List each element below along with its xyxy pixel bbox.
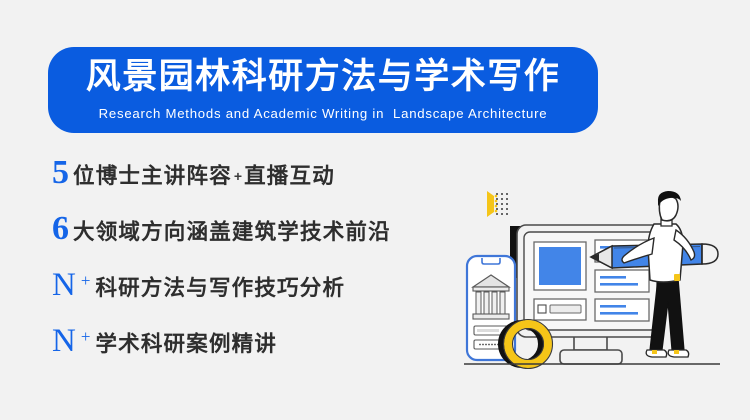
yellow-dotted-wedge-icon (487, 191, 508, 217)
monitor-stand-base (560, 350, 622, 364)
screen-text-card (595, 270, 649, 292)
phone-username-placeholder (477, 329, 499, 332)
plus-sign: + (81, 328, 91, 345)
screen-media-thumbnail (539, 247, 581, 285)
page-subtitle: Research Methods and Academic Writing in… (99, 104, 548, 124)
list-item: 5 位博士主讲阵容+直播互动 (52, 156, 472, 212)
screen-text-card (595, 299, 649, 321)
list-item: 6 大领域方向涵盖建筑学技术前沿 (52, 212, 472, 268)
checkbox-icon (538, 305, 546, 313)
bullet-number: N (52, 268, 76, 302)
screen-input-bar (550, 305, 581, 313)
monitor-stand-neck (574, 337, 607, 350)
yellow-ring-decoration (502, 320, 553, 369)
page-title: 风景园林科研方法与学术写作 (86, 50, 561, 104)
bullet-label: 学术科研案例精讲 (95, 333, 277, 357)
pocket-accent (674, 274, 680, 281)
list-item: N + 科研方法与写作技巧分析 (52, 268, 472, 324)
bullet-number: 5 (52, 156, 69, 190)
bullet-label: 大领域方向涵盖建筑学技术前沿 (73, 221, 391, 245)
screen-text-line (600, 276, 626, 279)
poster-canvas: 风景园林科研方法与学术写作 Research Methods and Acade… (0, 0, 750, 420)
list-item: N + 学术科研案例精讲 (52, 324, 472, 380)
illustration-svg (462, 182, 750, 382)
feature-list: 5 位博士主讲阵容+直播互动 6 大领域方向涵盖建筑学技术前沿 N + 科研方法… (52, 156, 472, 380)
bullet-number: N (52, 324, 76, 358)
bullet-label-part-2: 直播互动 (244, 164, 335, 189)
bullet-number: 6 (52, 212, 69, 246)
bullet-label: 科研方法与写作技巧分析 (95, 277, 345, 301)
bullet-label-part-1: 位博士主讲阵容 (73, 164, 232, 189)
plus-sign: + (232, 168, 244, 184)
screen-text-line (600, 305, 626, 308)
bullet-label: 位博士主讲阵容+直播互动 (73, 165, 335, 190)
screen-text-line (600, 312, 638, 315)
plus-sign: + (81, 272, 91, 289)
title-banner: 风景园林科研方法与学术写作 Research Methods and Acade… (48, 47, 598, 133)
illustration (462, 182, 750, 382)
screen-text-line (600, 283, 638, 286)
